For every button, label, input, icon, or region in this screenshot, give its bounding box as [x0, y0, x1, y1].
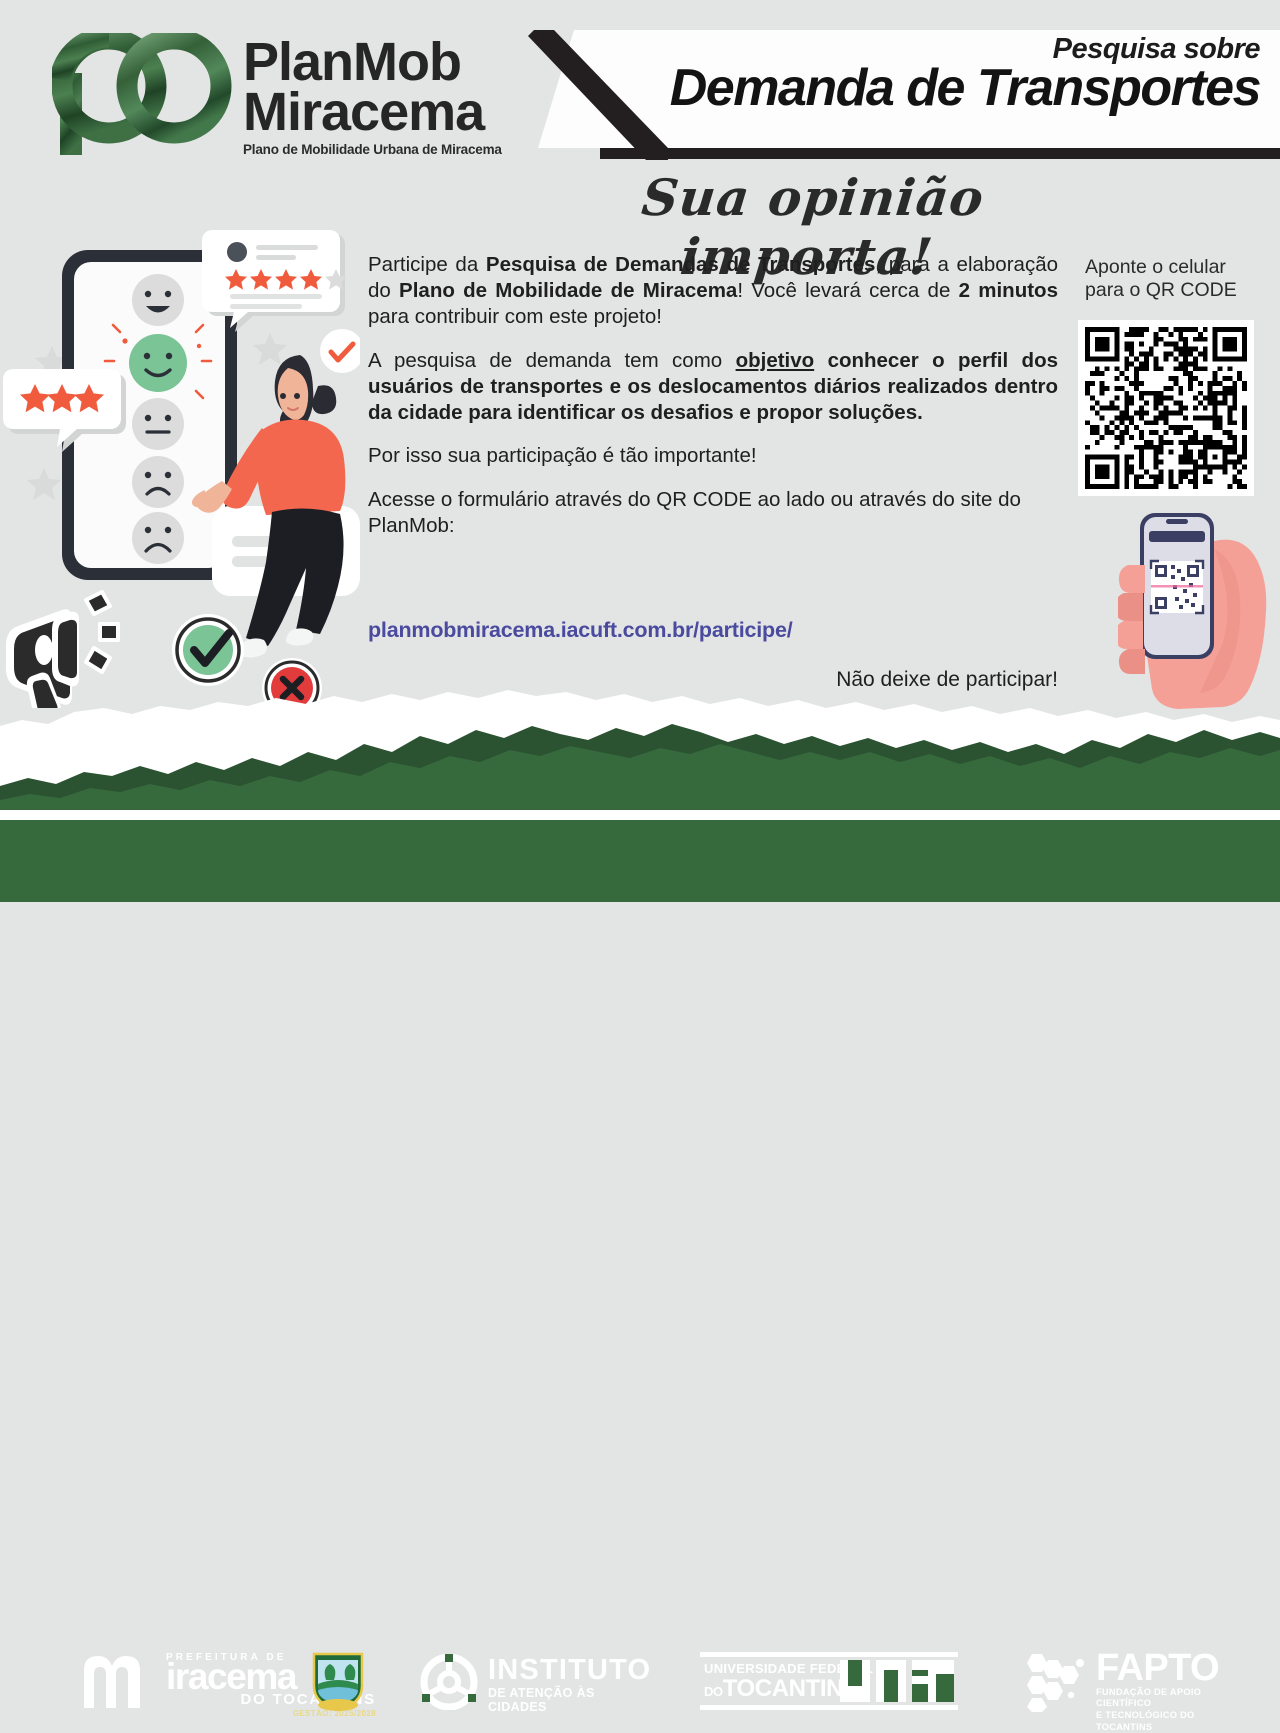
qr-caption-line-1: Aponte o celular: [1085, 256, 1265, 279]
instituto-gear-icon: [420, 1654, 478, 1710]
p1-bold1: Pesquisa de Demandas de Transportes: [486, 253, 876, 276]
survey-rating-illustration: [0, 228, 360, 708]
header-title: Demanda de Transportes: [560, 62, 1260, 114]
instituto-subtitle: DE ATENÇÃO ÀS CIDADES: [488, 1686, 651, 1714]
paragraph-importante: Por isso sua participação é tão importan…: [368, 443, 1058, 469]
sad-face: [132, 456, 184, 508]
header-banner-text: Pesquisa sobre Demanda de Transportes: [560, 34, 1260, 114]
phone-frame: [1140, 513, 1214, 659]
uft-line-2-prefix: DO: [704, 1684, 723, 1699]
fapto-logo: FAPTO FUNDAÇÃO DE APOIO CIENTÍFICO E TEC…: [1022, 1650, 1238, 1712]
fapto-hexagon-icon: [1022, 1650, 1088, 1712]
fapto-subtitle-line-1: FUNDAÇÃO DE APOIO CIENTÍFICO: [1096, 1687, 1238, 1709]
planmob-logo-icon: [52, 33, 232, 158]
paragraph-objetivo: A pesquisa de demanda tem como objetivo …: [368, 348, 1058, 427]
uft-logo: UNIVERSIDADE FEDERAL DOTOCANTINS: [700, 1652, 958, 1710]
p2-underline: objetivo: [736, 349, 815, 372]
uft-rule-top: [700, 1652, 958, 1657]
wordmark-line-1: PlanMob: [243, 38, 543, 88]
uft-line-2-main: TOCANTINS: [723, 1675, 859, 1702]
instituto-logo: INSTITUTO DE ATENÇÃO ÀS CIDADES: [420, 1654, 645, 1710]
happy-face: [132, 274, 184, 326]
p1-bold2: Plano de Mobilidade de Miracema: [399, 279, 737, 302]
p1-bold3: 2 minutos: [959, 279, 1058, 302]
uft-monogram-icon: [840, 1660, 954, 1702]
footer-logo-row: PREFEITURA DE iracema DO TOCANTINS GESTÃ…: [0, 820, 1280, 902]
qr-caption-line-2: para o QR CODE: [1085, 279, 1265, 302]
prefeitura-m-icon: [78, 1652, 164, 1712]
qr-caption: Aponte o celular para o QR CODE: [1085, 256, 1265, 301]
wordmark-line-2: Miracema: [243, 88, 543, 138]
instituto-text-block: INSTITUTO DE ATENÇÃO ÀS CIDADES: [488, 1656, 651, 1714]
miracema-coat-of-arms-icon: [310, 1650, 366, 1712]
neutral-face: [132, 398, 184, 450]
wordmark-subtitle: Plano de Mobilidade Urbana de Miracema: [243, 142, 543, 157]
survey-url-link[interactable]: planmobmiracema.iacuft.com.br/participe/: [368, 618, 793, 643]
body-copy: Participe da Pesquisa de Demandas de Tra…: [368, 252, 1058, 556]
fapto-name: FAPTO: [1096, 1650, 1238, 1686]
p1-seg1: Participe da: [368, 253, 486, 276]
hand-holding-phone-scanning-qr: [1118, 505, 1280, 710]
p2-lead: A pesquisa de demanda tem como: [368, 349, 736, 372]
header-banner-underline: [600, 148, 1280, 159]
planmob-wordmark: PlanMob Miracema Plano de Mobilidade Urb…: [243, 38, 543, 157]
paragraph-participe: Participe da Pesquisa de Demandas de Tra…: [368, 252, 1058, 331]
qr-code-icon: [1085, 327, 1247, 489]
fapto-subtitle-line-2: E TECNOLÓGICO DO TOCANTINS: [1096, 1710, 1238, 1732]
green-ridge-silhouette: [0, 700, 1280, 810]
check-bubble: [320, 329, 360, 373]
very-sad-face: [132, 512, 184, 564]
uft-rule-bottom: [700, 1705, 958, 1710]
fapto-text-block: FAPTO FUNDAÇÃO DE APOIO CIENTÍFICO E TEC…: [1096, 1650, 1238, 1733]
instituto-name: INSTITUTO: [488, 1656, 651, 1685]
check-badge: [172, 614, 244, 686]
prefeitura-miracema-logo: PREFEITURA DE iracema DO TOCANTINS GESTÃ…: [78, 1650, 368, 1712]
p1-seg4: para contribuir com este projeto!: [368, 305, 662, 328]
qr-code-image[interactable]: [1078, 320, 1254, 496]
poster-header: PlanMob Miracema Plano de Mobilidade Urb…: [0, 0, 1280, 175]
p1-seg3: ! Você levará cerca de: [737, 279, 958, 302]
paragraph-acesse: Acesse o formulário através do QR CODE a…: [368, 487, 1058, 539]
closing-line: Não deixe de participar!: [368, 668, 1058, 692]
poster-canvas: PlanMob Miracema Plano de Mobilidade Urb…: [0, 0, 1280, 902]
